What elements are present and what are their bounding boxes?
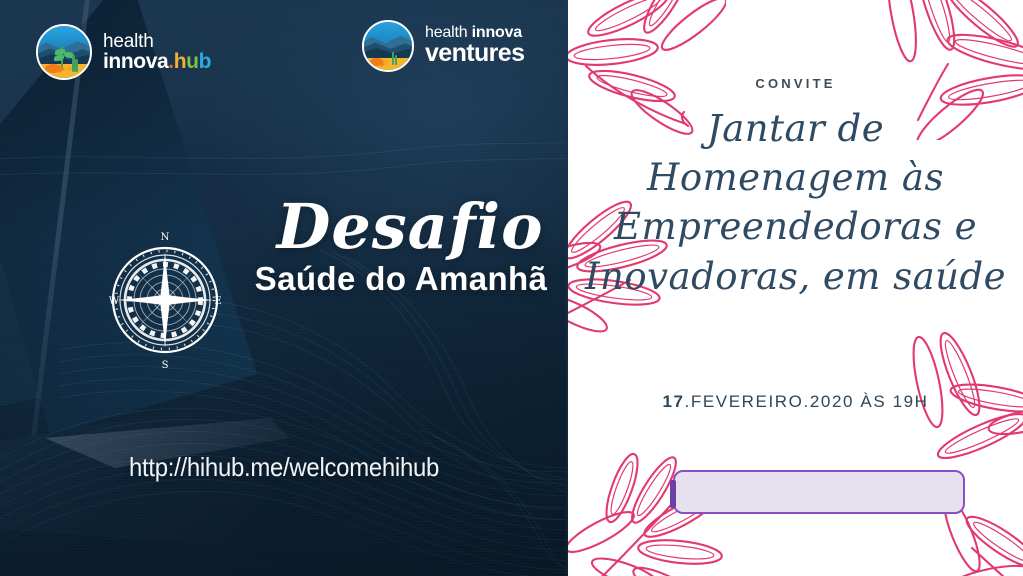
guest-name-input-handle[interactable] [670,480,676,508]
logo-ventures-line2: ventures [425,41,524,67]
logo-hub-line2: innova.hub [103,51,211,72]
title-script: Desafio [254,196,566,258]
logo-health-innova-ventures[interactable]: health innova ventures [362,20,524,72]
logo-hub-b: b [199,50,211,73]
site-url-link[interactable]: http://hihub.me/welcomehihub [23,452,546,483]
health-innova-ventures-mark-icon [362,20,414,72]
compass-label-west: W [109,296,120,307]
compass-label-east: E [214,296,221,307]
invite-title-line-1: Jantar de [568,104,1023,153]
invite-eyebrow: CONVITE [568,76,1023,91]
logo-hub-h: h [174,50,186,73]
headline-block: Desafio Saúde do Amanhã [236,196,566,298]
invite-title-line-2: Homenagem às [568,153,1023,202]
invite-title: Jantar de Homenagem às Empreendedoras e … [568,104,1023,301]
invite-date: 17.FEVEREIRO.2020 ÀS 19H [568,392,1023,412]
invite-title-line-3: Empreendedoras e [568,202,1023,251]
logo-hub-u: u [186,50,198,73]
right-invite-panel: CONVITE Jantar de Homenagem às Empreende… [568,0,1023,576]
invite-date-rest: .FEVEREIRO.2020 ÀS 19H [685,392,929,411]
logo-health-innova-hub[interactable]: health innova.hub [36,24,211,80]
invitation-slide: health innova.hub health innov [0,0,1023,576]
health-innova-hub-mark-icon [36,24,92,80]
left-photo-panel: health innova.hub health innov [0,0,568,576]
compass-rose-icon: N S W E [108,228,222,372]
invite-title-line-4: Inovadoras, em saúde [568,252,1023,301]
compass-label-north: N [161,232,170,243]
guest-name-input[interactable] [673,470,965,514]
invite-date-day: 17 [662,392,684,411]
compass-label-south: S [162,360,169,371]
logo-hub-line1: health [103,32,211,51]
logo-hub-innova: innova [103,50,168,73]
logo-row: health innova.hub health innov [0,0,568,100]
title-subtitle: Saúde do Amanhã [236,260,566,298]
